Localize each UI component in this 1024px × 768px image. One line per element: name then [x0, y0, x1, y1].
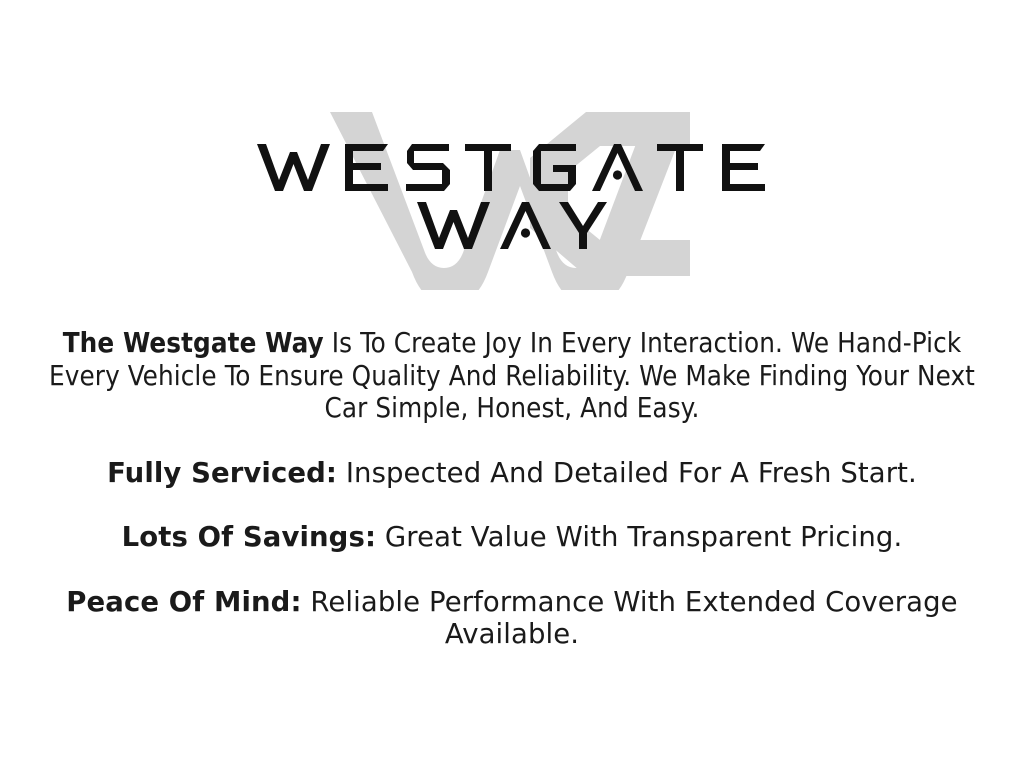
intro-paragraph: The Westgate Way Is To Create Joy In Eve…	[0, 327, 1024, 425]
westgate-letters	[257, 142, 767, 194]
logo-line-way	[0, 200, 1024, 258]
feature-text: Inspected And Detailed For A Fresh Start…	[337, 457, 917, 489]
copy-spacer	[0, 554, 1024, 586]
copy-spacer	[0, 489, 1024, 521]
logo-line-westgate	[0, 142, 1024, 200]
feature-item-fully-serviced: Fully Serviced: Inspected And Detailed F…	[0, 457, 1024, 490]
feature-text: Great Value With Transparent Pricing.	[376, 521, 902, 553]
feature-text: Reliable Performance With Extended Cover…	[302, 586, 958, 651]
feature-lead: Peace Of Mind:	[66, 586, 301, 618]
feature-item-lots-of-savings: Lots Of Savings: Great Value With Transp…	[0, 521, 1024, 554]
feature-lead: Fully Serviced:	[107, 457, 337, 489]
intro-lead: The Westgate Way	[63, 327, 324, 359]
feature-item-peace-of-mind: Peace Of Mind: Reliable Performance With…	[0, 586, 1024, 651]
brand-lockup	[0, 100, 1024, 290]
way-letters	[417, 200, 607, 252]
promo-card: The Westgate Way Is To Create Joy In Eve…	[0, 0, 1024, 768]
body-copy: The Westgate Way Is To Create Joy In Eve…	[0, 327, 1024, 651]
feature-lead: Lots Of Savings:	[122, 521, 376, 553]
logo-wordmark	[0, 100, 1024, 290]
copy-spacer	[0, 425, 1024, 457]
